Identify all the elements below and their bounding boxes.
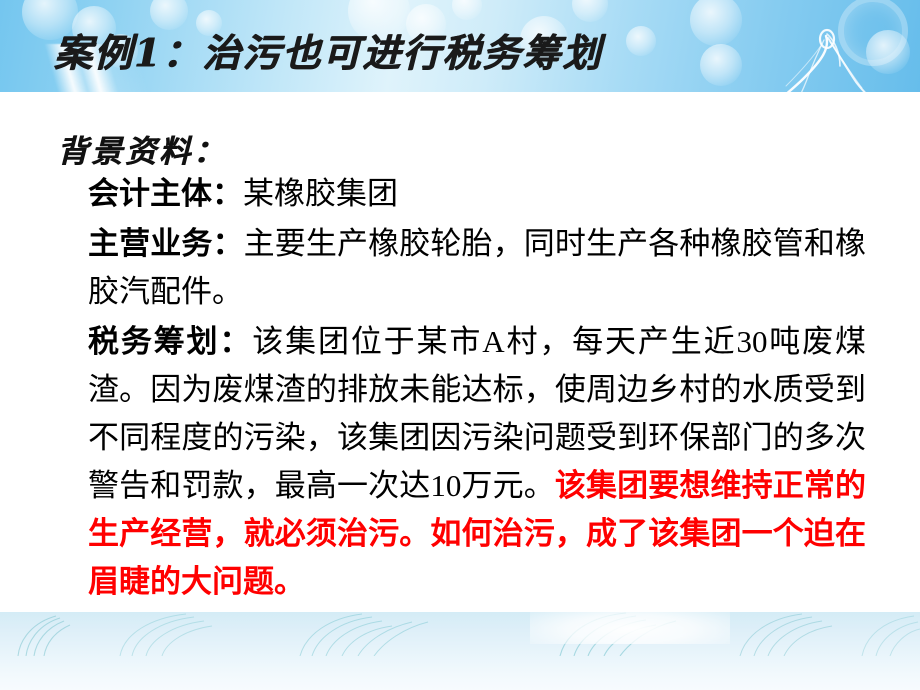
background-info-list: 会计主体：某橡胶集团 主营业务：主要生产橡胶轮胎，同时生产各种橡胶管和橡胶汽配件… xyxy=(88,170,866,612)
list-item: 主营业务：主要生产橡胶轮胎，同时生产各种橡胶管和橡胶汽配件。 xyxy=(88,220,866,316)
slide-body: 背景资料： 会计主体：某橡胶集团 主营业务：主要生产橡胶轮胎，同时生产各种橡胶管… xyxy=(0,92,920,612)
list-item-label: 会计主体： xyxy=(88,176,243,211)
list-item: 会计主体：某橡胶集团 xyxy=(88,170,866,218)
bokeh-circle-icon xyxy=(572,0,608,22)
list-item: 税务筹划：该集团位于某市A村，每天产生近30吨废煤渣。因为废煤渣的排放未能达标，… xyxy=(88,318,866,606)
page-title: 案例1：治污也可进行税务筹划 xyxy=(54,22,602,77)
bokeh-circle-icon xyxy=(626,26,656,56)
bokeh-circle-icon xyxy=(452,0,482,20)
slide: 案例1：治污也可进行税务筹划 背景资料： 会计主体：某橡胶集团 主营业务：主要生… xyxy=(0,0,920,690)
section-heading: 背景资料： xyxy=(57,126,227,171)
footer-fan-decoration xyxy=(0,612,920,656)
bokeh-circle-icon xyxy=(700,44,742,86)
bokeh-circle-icon xyxy=(690,0,742,46)
footer-highlight-glow xyxy=(530,612,730,644)
slide-header-banner: 案例1：治污也可进行税务筹划 xyxy=(0,0,920,92)
list-item-text: 某橡胶集团 xyxy=(243,176,398,211)
list-item-label: 税务筹划： xyxy=(88,324,252,359)
header-swoosh-icon xyxy=(770,26,900,92)
list-item-label: 主营业务： xyxy=(88,226,244,261)
slide-footer-band xyxy=(0,612,920,690)
